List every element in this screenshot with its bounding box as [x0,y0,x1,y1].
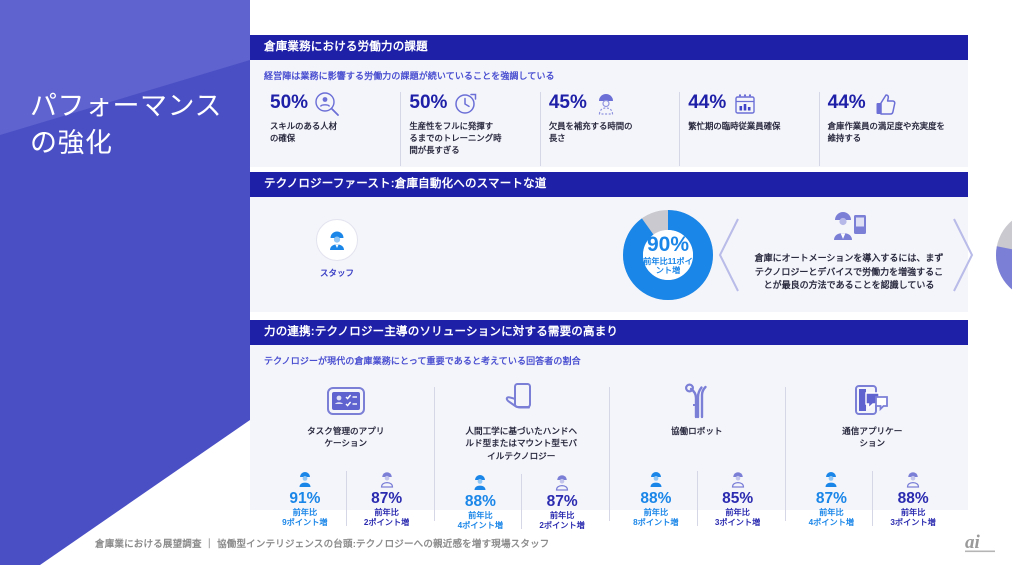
stat-percent: 50% [270,92,308,114]
staff-avatar-icon [646,469,666,489]
staff-percent: 88% [440,492,522,511]
staff-label: スタッフ [302,267,372,279]
executive-avatar-icon [377,469,397,489]
clock-arrow-icon [453,92,479,116]
executive-note: 前年比 3ポイント増 [697,508,779,528]
staff-avatar-icon [821,469,841,489]
stat-percent: 45% [549,92,587,114]
stat-label: 生産性をフルに発揮す るまでのトレーニング時 間が長すぎる [409,121,532,157]
stat-cell: 50% スキルのある人材 の確保 [262,92,400,166]
staff-percent: 87% [791,489,873,508]
staff-donut-note: 前年比11ポイ ント増 [643,257,693,276]
executive-donut-chart: 78% 前年比2ポイ ント増 [995,209,1012,301]
staff-stat: 88% 前年比 8ポイント増 [615,467,697,528]
footer-caption: 倉庫業における展望調査 ｜ 協働型インテリジェンスの台頭:テクノロジーへの親近感… [95,536,549,550]
communication-app-icon [850,384,894,418]
stat-cell: 45% 欠員を補充する時間の 長さ [540,92,679,166]
stat-cell: 50% 生産性をフルに発揮す るまでのトレーニング時 間が長すぎる [400,92,539,166]
stat-label: 繁忙期の臨時従業員確保 [688,121,811,133]
staff-percent: 88% [615,489,697,508]
tech-column: タスク管理のアプリ ケーション 91% 前年比 9ポイント増 [258,379,434,527]
section2-statement-text: 倉庫にオートメーションを導入するには、まず テクノロジーとデバイスで労働力を増強… [740,252,958,293]
section1-header: 倉庫業務における労働力の課題 [250,35,968,60]
task-app-icon [324,384,368,418]
stat-label: 欠員を補充する時間の 長さ [549,121,672,145]
collaborative-robot-icon [676,383,718,419]
stat-percent: 44% [828,92,866,114]
thumbs-up-icon [872,92,898,116]
stat-percent: 50% [409,92,447,114]
executive-stat: 87% 前年比 2ポイント増 [521,470,603,531]
staff-note: 前年比 4ポイント増 [440,511,522,531]
worker-outline-icon [593,92,619,116]
section-demand-growth: 力の連携:テクノロジー主導のソリューションに対する需要の高まり テクノロジーが現… [250,320,968,510]
stat-label: 倉庫作業員の満足度や充実度を 維持する [828,121,951,145]
executive-stat: 85% 前年比 3ポイント増 [697,467,779,528]
stat-label: スキルのある人材 の確保 [270,121,393,145]
ai-logo: ai [964,528,998,556]
section3-header: 力の連携:テクノロジー主導のソリューションに対する需要の高まり [250,320,968,345]
tech-label: 協働ロボット [615,425,779,459]
worker-device-icon [827,209,871,243]
section2-header: テクノロジーファースト:倉庫自動化へのスマートな道 [250,172,968,197]
section2-statement: 倉庫にオートメーションを導入するには、まず テクノロジーとデバイスで労働力を増強… [740,209,958,293]
tech-label: 通信アプリケー ション [791,425,955,459]
executive-stat: 88% 前年比 3ポイント増 [872,467,954,528]
tech-label: 人間工学に基づいたハンドヘ ルド型またはマウント型モバ イルテクノロジー [440,425,604,462]
executive-percent: 85% [697,489,779,508]
staff-stat: 88% 前年比 4ポイント増 [440,470,522,531]
section1-stat-row: 50% スキルのある人材 の確保 50% [250,82,968,166]
person-search-icon [314,92,340,116]
staff-stat: 87% 前年比 4ポイント増 [791,467,873,528]
section-workforce-challenges: 倉庫業務における労働力の課題 経営陣は業務に影響する労働力の課題が続いていること… [250,35,968,167]
section2-body: スタッフ 90% 前年比11ポイ ント増 [250,197,968,312]
staff-donut-percent: 90% [647,235,689,255]
stat-percent: 44% [688,92,726,114]
staff-note: 前年比 4ポイント増 [791,508,873,528]
executive-stat: 87% 前年比 2ポイント増 [346,467,428,528]
section3-columns: タスク管理のアプリ ケーション 91% 前年比 9ポイント増 [250,367,968,527]
executive-note: 前年比 2ポイント増 [521,511,603,531]
staff-persona: スタッフ [302,219,372,279]
executive-note: 前年比 2ポイント増 [346,508,428,528]
svg-text:ai: ai [965,532,981,553]
tech-column: 協働ロボット 88% 前年比 8ポイント増 [609,379,785,527]
executive-avatar-icon [552,472,572,492]
tech-column: 通信アプリケー ション 87% 前年比 4ポイント増 [785,379,961,527]
staff-stat: 91% 前年比 9ポイント増 [264,467,346,528]
executive-note: 前年比 3ポイント増 [872,508,954,528]
executive-percent: 87% [346,489,428,508]
executive-avatar-icon [903,469,923,489]
executive-avatar-icon [728,469,748,489]
chevron-left-icon [716,215,742,295]
staff-note: 前年比 8ポイント増 [615,508,697,528]
section-technology-first: テクノロジーファースト:倉庫自動化へのスマートな道 スタッフ [250,172,968,312]
tech-label: タスク管理のアプリ ケーション [264,425,428,459]
stat-cell: 44% 倉庫作業員の満足度や充実度を 維持する [819,92,958,166]
stat-cell: 44% 繁忙期の臨時従業員確保 [679,92,818,166]
section3-subtitle: テクノロジーが現代の倉庫業務にとって重要であると考えている回答者の割合 [250,345,968,367]
staff-avatar-icon [316,219,358,261]
section1-subtitle: 経営陣は業務に影響する労働力の課題が続いていることを強調している [250,60,968,82]
tech-column: 人間工学に基づいたハンドヘ ルド型またはマウント型モバ イルテクノロジー 88%… [434,379,610,527]
staff-donut-chart: 90% 前年比11ポイ ント増 [622,209,714,301]
staff-note: 前年比 9ポイント増 [264,508,346,528]
executive-percent: 87% [521,492,603,511]
page-title: パフォーマンス の強化 [30,88,260,163]
staff-percent: 91% [264,489,346,508]
staff-avatar-icon [295,469,315,489]
infographic-canvas: パフォーマンス の強化 倉庫業務における労働力の課題 経営陣は業務に影響する労働… [0,0,1012,565]
staff-avatar-icon [470,472,490,492]
calendar-chart-icon [732,92,758,116]
executive-percent: 88% [872,489,954,508]
handheld-mobile-icon [501,383,541,419]
